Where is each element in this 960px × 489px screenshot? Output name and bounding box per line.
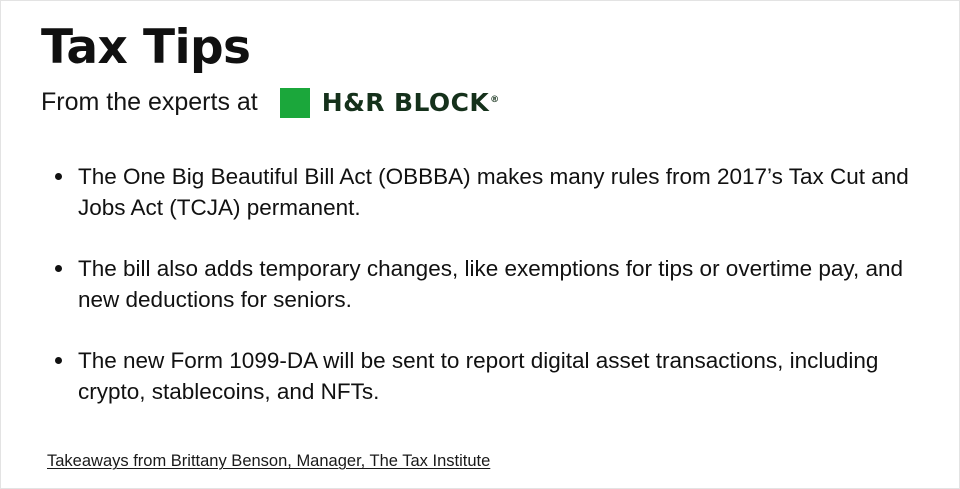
- list-item: The One Big Beautiful Bill Act (OBBBA) m…: [53, 161, 941, 223]
- slide-header: Tax Tips From the experts at H&R BLOCK®: [41, 23, 921, 120]
- hr-block-wordmark-text: H&R BLOCK: [322, 88, 489, 117]
- list-item: The new Form 1099-DA will be sent to rep…: [53, 345, 941, 407]
- takeaways-bullet-list: The One Big Beautiful Bill Act (OBBBA) m…: [53, 161, 941, 407]
- hr-block-wordmark: H&R BLOCK®: [322, 90, 500, 115]
- subtitle-row: From the experts at H&R BLOCK®: [41, 86, 921, 120]
- tax-tips-slide: Tax Tips From the experts at H&R BLOCK® …: [0, 0, 960, 489]
- page-title: Tax Tips: [41, 23, 921, 74]
- trademark-icon: ®: [490, 95, 499, 105]
- hr-block-logo: H&R BLOCK®: [280, 87, 500, 119]
- footer-attribution: Takeaways from Brittany Benson, Manager,…: [47, 452, 490, 471]
- subtitle-text: From the experts at: [41, 90, 258, 115]
- hr-block-green-square-icon: [280, 88, 310, 118]
- list-item: The bill also adds temporary changes, li…: [53, 253, 941, 315]
